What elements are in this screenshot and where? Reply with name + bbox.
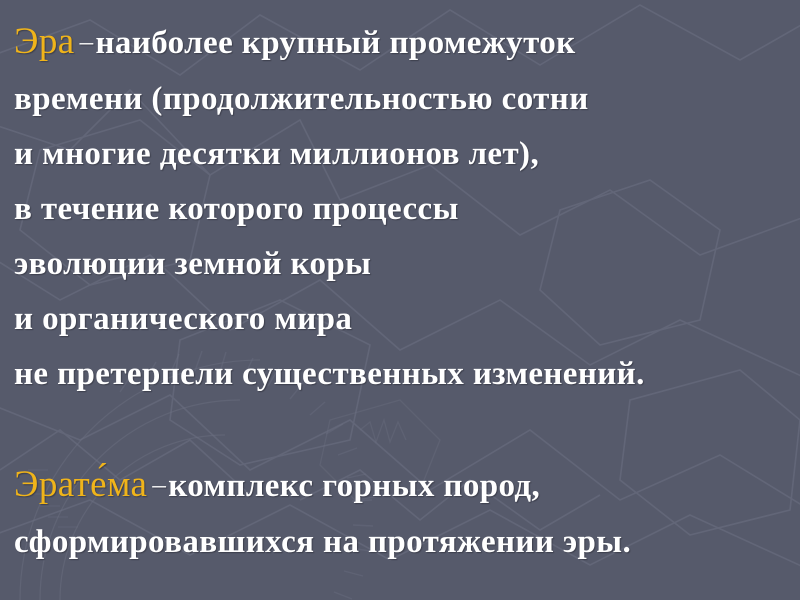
definition-era-line-1: времени (продолжительностью сотни: [14, 72, 790, 127]
definition-era-line-0: Эра–наиболее крупный промежуток: [14, 14, 790, 72]
paragraph-spacer: [14, 402, 790, 457]
definition-eratema-line-0: Эрате́ма–комплекс горных пород,: [14, 457, 790, 515]
definition-era-text-0: наиболее крупный промежуток: [95, 25, 575, 61]
definition-era-line-3: в течение которого процессы: [14, 182, 790, 237]
definition-era-line-5: и органического мира: [14, 292, 790, 347]
definition-era-line-6: не претерпели существенных изменений.: [14, 347, 790, 402]
definition-era: Эра–наиболее крупный промежуток времени …: [14, 14, 790, 402]
definition-eratema-line-1: сформировавшихся на протяжении эры.: [14, 515, 790, 570]
definition-eratema: Эрате́ма–комплекс горных пород, сформиро…: [14, 457, 790, 570]
term-eratema: Эрате́ма: [14, 464, 147, 505]
slide-content: Эра–наиболее крупный промежуток времени …: [0, 0, 800, 600]
dash-separator-era: –: [75, 26, 96, 56]
term-era: Эра: [14, 21, 75, 62]
dash-separator-eratema: –: [147, 469, 168, 499]
definition-eratema-text-0: комплекс горных пород,: [168, 468, 540, 504]
definition-era-line-2: и многие десятки миллионов лет),: [14, 127, 790, 182]
slide-canvas: Эра–наиболее крупный промежуток времени …: [0, 0, 800, 600]
definition-era-line-4: эволюции земной коры: [14, 237, 790, 292]
